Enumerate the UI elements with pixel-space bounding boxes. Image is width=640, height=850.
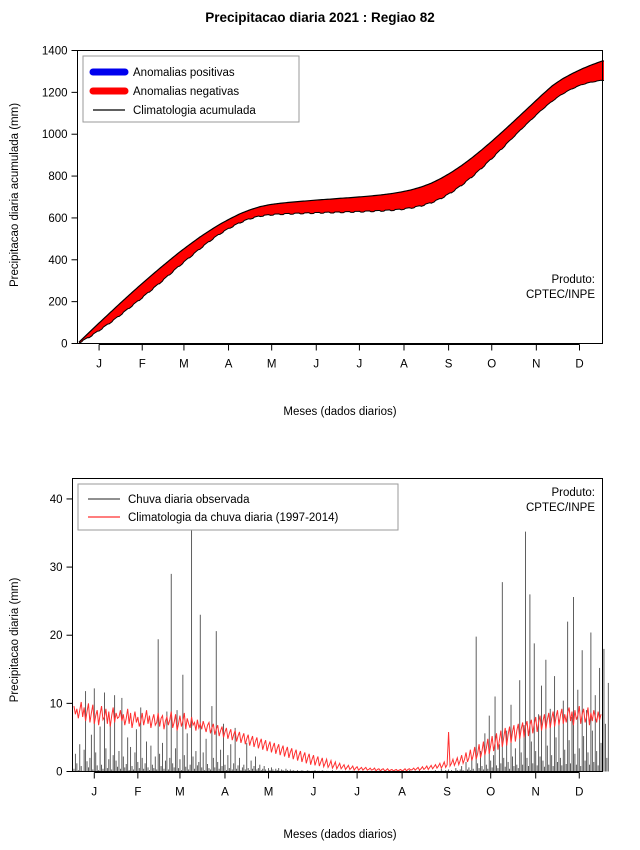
top-x-axis-title: Meses (dados diarios) — [283, 406, 396, 418]
top-x-tick-label: S — [445, 359, 453, 371]
top-y-tick-label: 800 — [48, 171, 67, 183]
top-y-axis-title: Precipitacao diaria acumulada (mm) — [9, 103, 21, 287]
bottom-x-tick-label: J — [354, 787, 360, 799]
bottom-y-tick-label: 20 — [50, 630, 63, 642]
bottom-x-tick-label: M — [175, 787, 185, 799]
bottom-x-tick-label: N — [532, 787, 540, 799]
bottom-x-axis: JFMAMJJASOND — [91, 773, 583, 799]
bottom-y-tick-label: 10 — [50, 698, 63, 710]
top-x-tick-label: J — [357, 359, 363, 371]
top-y-axis: 0200400600800100012001400 — [42, 46, 78, 351]
bottom-y-tick-label: 40 — [50, 494, 63, 506]
bottom-legend: Chuva diaria observadaClimatologia da ch… — [78, 484, 398, 530]
page-title: Precipitacao diaria 2021 : Regiao 82 — [205, 10, 435, 25]
top-x-tick-label: M — [267, 359, 277, 371]
bottom-x-tick-label: S — [443, 787, 451, 799]
bottom-producer-label-line2: CPTEC/INPE — [526, 502, 595, 514]
bottom-legend-label: Climatologia da chuva diaria (1997-2014) — [128, 512, 338, 524]
screenshot-root: Precipitacao diaria 2021 : Regiao 82 Pre… — [0, 0, 640, 850]
bottom-x-tick-label: D — [575, 787, 583, 799]
accumulated-chart-svg: Precipitacao diaria 2021 : Regiao 82 Pre… — [0, 0, 640, 430]
top-y-tick-label: 600 — [48, 213, 67, 225]
bottom-x-axis-title: Meses (dados diarios) — [283, 829, 396, 841]
top-legend-label: Anomalias negativas — [133, 86, 239, 98]
bottom-x-tick-label: J — [91, 787, 97, 799]
top-y-tick-label: 400 — [48, 255, 67, 267]
bottom-x-tick-label: M — [264, 787, 274, 799]
top-legend: Anomalias positivasAnomalias negativasCl… — [83, 56, 299, 122]
bottom-y-axis-title: Precipitacao diaria (mm) — [9, 578, 21, 703]
top-x-tick-label: D — [575, 359, 583, 371]
top-x-tick-label: F — [139, 359, 146, 371]
bottom-y-axis: 010203040 — [50, 494, 73, 779]
daily-climatology-line — [74, 702, 601, 771]
daily-chart-svg: Precipitacao diaria (mm) Meses (dados di… — [0, 430, 640, 850]
top-legend-label: Anomalias positivas — [133, 67, 235, 79]
top-x-tick-label: J — [313, 359, 319, 371]
bottom-y-tick-label: 0 — [56, 767, 62, 779]
bottom-x-tick-label: A — [221, 787, 229, 799]
daily-precipitation-panel: Precipitacao diaria (mm) Meses (dados di… — [0, 430, 640, 850]
top-producer-label-line2: CPTEC/INPE — [526, 289, 595, 301]
bottom-x-tick-label: J — [311, 787, 317, 799]
top-legend-label: Climatologia acumulada — [133, 105, 256, 117]
accumulated-precipitation-panel: Precipitacao diaria 2021 : Regiao 82 Pre… — [0, 0, 640, 430]
bottom-legend-label: Chuva diaria observada — [128, 494, 250, 506]
top-x-tick-label: J — [96, 359, 102, 371]
top-x-tick-label: M — [179, 359, 189, 371]
bottom-y-tick-label: 30 — [50, 562, 63, 574]
top-x-tick-label: N — [532, 359, 540, 371]
top-x-tick-label: O — [487, 359, 496, 371]
bottom-x-tick-label: F — [134, 787, 141, 799]
top-y-tick-label: 1400 — [42, 46, 68, 58]
bottom-producer-label-line1: Produto: — [552, 487, 595, 499]
top-x-axis: JFMAMJJASOND — [96, 345, 583, 371]
top-producer-label-line1: Produto: — [552, 274, 595, 286]
top-y-tick-label: 1200 — [42, 87, 68, 99]
top-y-tick-label: 1000 — [42, 129, 68, 141]
bottom-x-tick-label: O — [486, 787, 495, 799]
bottom-x-tick-label: A — [398, 787, 406, 799]
top-x-tick-label: A — [400, 359, 408, 371]
top-y-tick-label: 0 — [61, 339, 67, 351]
bottom-plot-area — [74, 492, 608, 771]
top-x-tick-label: A — [225, 359, 233, 371]
top-y-tick-label: 200 — [48, 297, 67, 309]
